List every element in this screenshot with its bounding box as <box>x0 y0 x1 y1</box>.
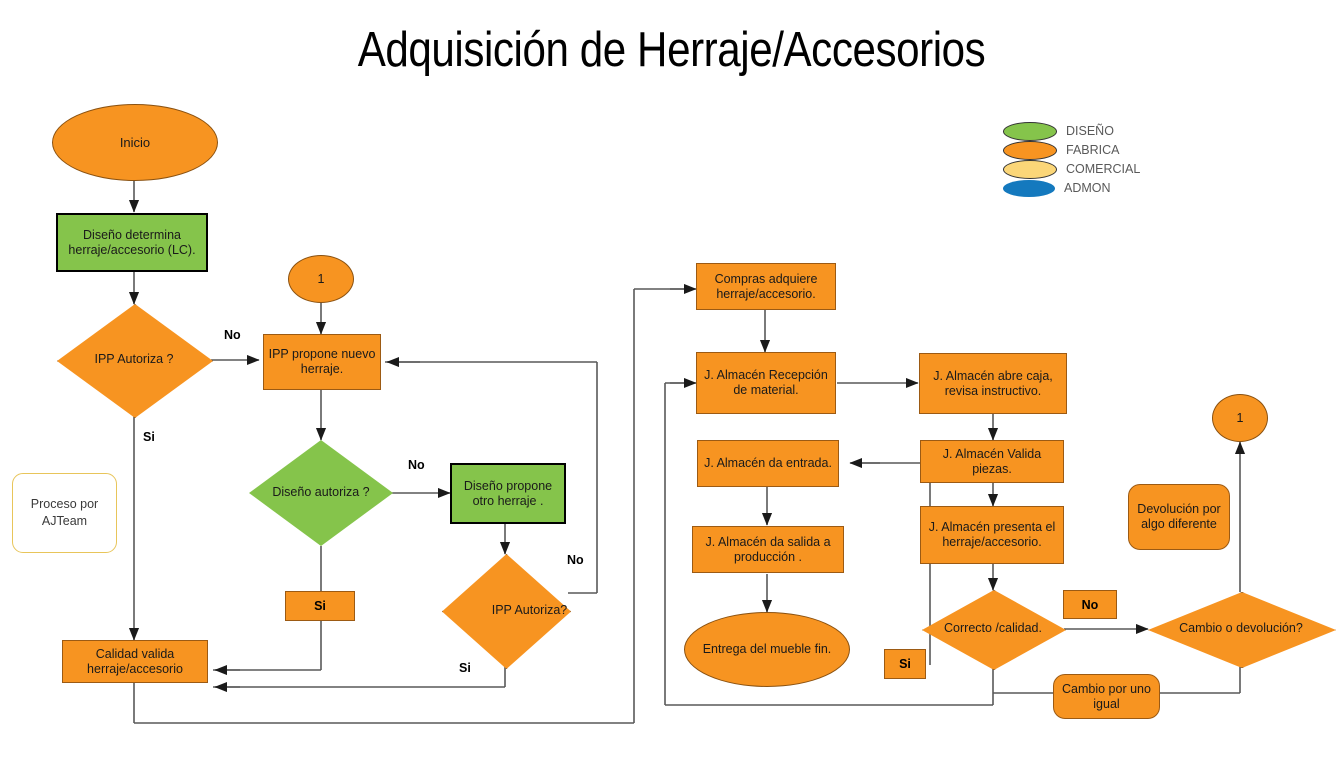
node-inicio-label: Inicio <box>120 135 150 150</box>
edge-label-si-ipp-autoriza: Si <box>143 430 155 444</box>
edge-tag-si-diseno-autoriza: Si <box>285 591 355 621</box>
node-almacen-presenta-label: J. Almacén presenta el herraje/accesorio… <box>925 520 1059 550</box>
edge-label-text: Si <box>899 657 911 671</box>
edge-label-text: No <box>1082 598 1099 612</box>
node-almacen-salida-label: J. Almacén da salida a producción . <box>697 535 839 565</box>
node-almacen-entrada[interactable]: J. Almacén da entrada. <box>697 440 839 487</box>
edge-label-no-ipp-autoriza: No <box>224 328 241 342</box>
node-compras-adquiere-label: Compras adquiere herraje/accesorio. <box>701 272 831 302</box>
page-title: Adquisición de Herraje/Accesorios <box>94 22 1249 78</box>
node-ipp-autoriza-label: IPP Autoriza ? <box>57 304 211 416</box>
legend-item-comercial: COMERCIAL <box>1003 160 1140 178</box>
node-cambio-uno-igual-label: Cambio por uno igual <box>1058 682 1155 712</box>
note-proceso-ajteam: Proceso por AJTeam <box>12 473 117 553</box>
node-ipp-autoriza-2[interactable]: IPP Autoriza? <box>442 554 569 667</box>
legend-swatch-comercial <box>1003 160 1057 179</box>
edge-label-text: Si <box>314 599 326 613</box>
node-almacen-abre[interactable]: J. Almacén abre caja, revisa instructivo… <box>919 353 1067 414</box>
node-calidad-valida[interactable]: Calidad valida herraje/accesorio <box>62 640 208 683</box>
node-devolucion-algo-label: Devolución por algo diferente <box>1133 502 1225 532</box>
legend-swatch-fabrica <box>1003 141 1057 160</box>
node-almacen-entrada-label: J. Almacén da entrada. <box>704 456 832 471</box>
edge-label-text: No <box>224 328 241 342</box>
node-almacen-recepcion-label: J. Almacén Recepción de material. <box>701 368 831 398</box>
node-almacen-valida[interactable]: J. Almacén Valida piezas. <box>920 440 1064 483</box>
edge-label-text: No <box>567 553 584 567</box>
edge-label-si-ipp-autoriza-2: Si <box>459 661 471 675</box>
node-diseno-determina[interactable]: Diseño determina herraje/accesorio (LC). <box>56 213 208 272</box>
edge-tag-si-correcto: Si <box>884 649 926 679</box>
node-ipp-autoriza-2-label: IPP Autoriza? <box>442 554 617 667</box>
node-connector-1-right[interactable]: 1 <box>1212 394 1268 442</box>
edge-label-text: No <box>408 458 425 472</box>
legend: DISEÑO FABRICA COMERCIAL ADMON <box>1003 122 1140 198</box>
node-connector-1-left-label: 1 <box>318 272 325 287</box>
legend-label-comercial: COMERCIAL <box>1066 162 1140 176</box>
node-diseno-autoriza-label: Diseño autoriza ? <box>249 440 393 546</box>
node-ipp-autoriza[interactable]: IPP Autoriza ? <box>57 304 211 416</box>
node-ipp-propone[interactable]: IPP propone nuevo herraje. <box>263 334 381 390</box>
edge-label-no-diseno-autoriza: No <box>408 458 425 472</box>
node-diseno-autoriza[interactable]: Diseño autoriza ? <box>249 440 393 546</box>
node-almacen-recepcion[interactable]: J. Almacén Recepción de material. <box>696 352 836 414</box>
node-almacen-presenta[interactable]: J. Almacén presenta el herraje/accesorio… <box>920 506 1064 564</box>
legend-label-fabrica: FABRICA <box>1066 143 1120 157</box>
node-connector-1-right-label: 1 <box>1237 411 1244 426</box>
node-correcto-calidad[interactable]: Correcto /calidad. <box>922 590 1064 668</box>
node-diseno-propone-label: Diseño propone otro herraje . <box>456 479 560 509</box>
node-entrega-mueble-label: Entrega del mueble fin. <box>703 642 832 657</box>
node-devolucion-algo[interactable]: Devolución por algo diferente <box>1128 484 1230 550</box>
node-compras-adquiere[interactable]: Compras adquiere herraje/accesorio. <box>696 263 836 310</box>
edge-label-no-ipp-autoriza-2: No <box>567 553 584 567</box>
node-calidad-valida-label: Calidad valida herraje/accesorio <box>67 647 203 677</box>
legend-item-diseno: DISEÑO <box>1003 122 1140 140</box>
legend-item-admon: ADMON <box>1003 179 1140 197</box>
node-cambio-devolucion-label: Cambio o devolución? <box>1148 592 1334 666</box>
node-diseno-determina-label: Diseño determina herraje/accesorio (LC). <box>62 228 202 258</box>
node-cambio-uno-igual[interactable]: Cambio por uno igual <box>1053 674 1160 719</box>
legend-swatch-diseno <box>1003 122 1057 141</box>
legend-item-fabrica: FABRICA <box>1003 141 1140 159</box>
edge-tag-no-correcto: No <box>1063 590 1117 619</box>
node-cambio-devolucion[interactable]: Cambio o devolución? <box>1148 592 1334 666</box>
node-almacen-valida-label: J. Almacén Valida piezas. <box>925 447 1059 477</box>
flowchart-canvas: Adquisición de Herraje/Accesorios DISEÑO… <box>0 0 1343 768</box>
node-diseno-propone[interactable]: Diseño propone otro herraje . <box>450 463 566 524</box>
node-connector-1-left[interactable]: 1 <box>288 255 354 303</box>
legend-swatch-admon <box>1003 180 1055 197</box>
node-almacen-salida[interactable]: J. Almacén da salida a producción . <box>692 526 844 573</box>
edge-label-text: Si <box>459 661 471 675</box>
node-entrega-mueble[interactable]: Entrega del mueble fin. <box>684 612 850 687</box>
node-inicio[interactable]: Inicio <box>52 104 218 181</box>
note-proceso-ajteam-label: Proceso por AJTeam <box>13 496 116 530</box>
legend-label-admon: ADMON <box>1064 181 1111 195</box>
node-correcto-calidad-label: Correcto /calidad. <box>922 590 1064 668</box>
edge-label-text: Si <box>143 430 155 444</box>
node-ipp-propone-label: IPP propone nuevo herraje. <box>268 347 376 377</box>
node-almacen-abre-label: J. Almacén abre caja, revisa instructivo… <box>924 369 1062 399</box>
legend-label-diseno: DISEÑO <box>1066 124 1114 138</box>
